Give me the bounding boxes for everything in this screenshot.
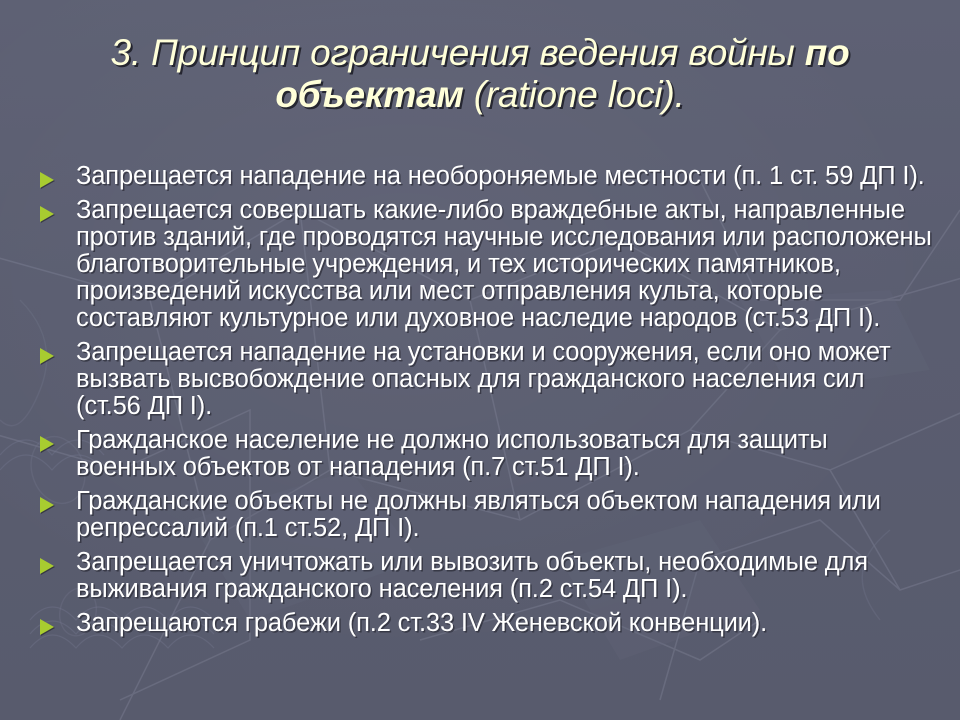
triangle-right-bullet-icon xyxy=(34,549,76,574)
triangle-right-bullet-icon xyxy=(34,427,76,452)
list-item-text: Гражданские объекты не должны являться о… xyxy=(76,488,934,542)
list-item-text: Гражданское население не должно использо… xyxy=(76,427,934,481)
list-item-text: Запрещаются грабежи (п.2 ст.33 IV Женевс… xyxy=(76,610,934,637)
list-item-text: Запрещается уничтожать или вывозить объе… xyxy=(76,549,934,603)
slide-body-bullet-list: Запрещается нападение на необороняемые м… xyxy=(34,163,934,637)
triangle-right-bullet-icon xyxy=(34,197,76,222)
triangle-right-bullet-icon xyxy=(34,610,76,635)
list-item: Запрещаются грабежи (п.2 ст.33 IV Женевс… xyxy=(34,610,934,637)
list-item: Запрещается уничтожать или вывозить объе… xyxy=(34,549,934,603)
slide-title-line-2-bold: объектам xyxy=(275,74,463,115)
list-item: Запрещается совершать какие-либо враждеб… xyxy=(34,197,934,332)
list-item: Гражданские объекты не должны являться о… xyxy=(34,488,934,542)
slide-title-line-2-regular: (ratione loci). xyxy=(464,74,685,115)
slide-title-line-1-regular: 3. Принцип ограничения ведения войны xyxy=(110,32,804,73)
list-item: Запрещается нападение на необороняемые м… xyxy=(34,163,934,190)
triangle-right-bullet-icon xyxy=(34,488,76,513)
list-item-text: Запрещается нападение на установки и соо… xyxy=(76,339,934,420)
slide-title-line-1-bold: по xyxy=(805,32,850,73)
slide-title-line-1: 3. Принцип ограничения ведения войны по xyxy=(60,32,900,74)
list-item-text: Запрещается нападение на необороняемые м… xyxy=(76,163,934,190)
slide-title: 3. Принцип ограничения ведения войны по … xyxy=(60,32,900,116)
list-item: Запрещается нападение на установки и соо… xyxy=(34,339,934,420)
presentation-slide: 3. Принцип ограничения ведения войны по … xyxy=(0,0,960,720)
list-item: Гражданское население не должно использо… xyxy=(34,427,934,481)
triangle-right-bullet-icon xyxy=(34,163,76,188)
slide-title-line-2: объектам (ratione loci). xyxy=(60,74,900,116)
triangle-right-bullet-icon xyxy=(34,339,76,364)
list-item-text: Запрещается совершать какие-либо враждеб… xyxy=(76,197,934,332)
